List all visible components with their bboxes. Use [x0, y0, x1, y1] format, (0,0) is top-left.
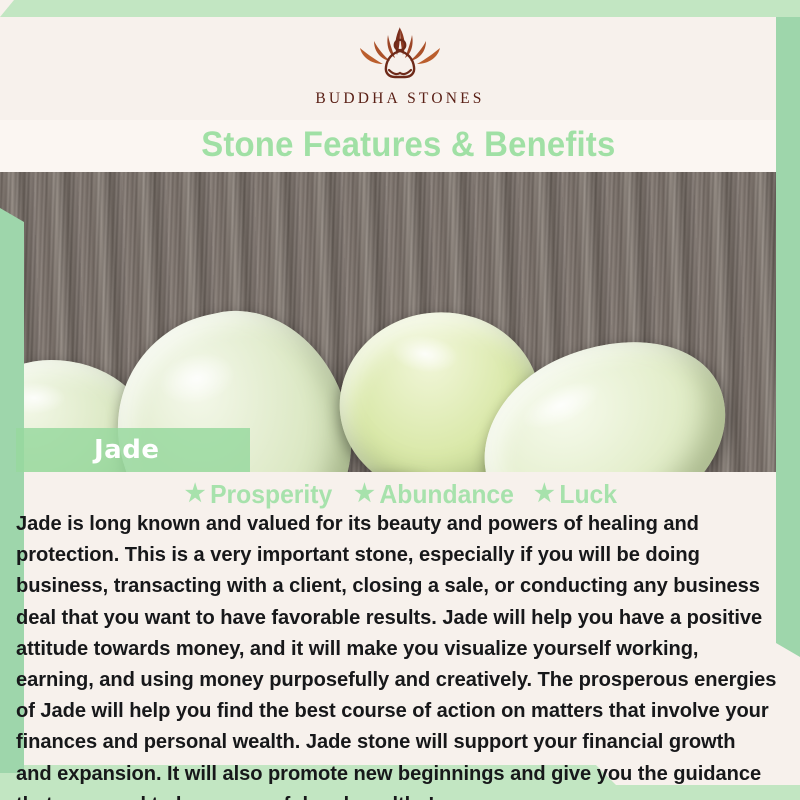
infographic-page: BUDDHA STONES Stone Features & Benefits … [0, 0, 800, 800]
description-text: Jade is long known and valued for its be… [16, 509, 776, 800]
description-block: Jade is long known and valued for its be… [16, 509, 776, 800]
page-title: Stone Features & Benefits [158, 121, 658, 169]
right-green-band [776, 17, 800, 657]
page-title-text: Stone Features & Benefits [201, 125, 615, 165]
benefit-item: ★ Luck [534, 479, 617, 510]
brand-name: BUDDHA STONES [315, 90, 484, 108]
benefit-label: Prosperity [210, 479, 332, 510]
star-icon: ★ [354, 482, 374, 506]
top-green-band [0, 0, 800, 17]
hero-stone-photo [0, 172, 800, 472]
benefit-item: ★ Prosperity [185, 479, 332, 510]
benefit-label: Abundance [379, 479, 513, 510]
star-icon: ★ [185, 482, 205, 506]
benefits-row: ★ Prosperity ★ Abundance ★ Luck [0, 477, 800, 511]
stone-name-label: Jade [94, 435, 159, 465]
lotus-meditation-icon [344, 23, 456, 85]
star-icon: ★ [534, 482, 554, 506]
brand-logo-area: BUDDHA STONES [0, 17, 800, 120]
benefit-item: ★ Abundance [354, 479, 514, 510]
stone-name-banner: Jade [16, 428, 250, 472]
benefit-label: Luck [559, 479, 617, 510]
